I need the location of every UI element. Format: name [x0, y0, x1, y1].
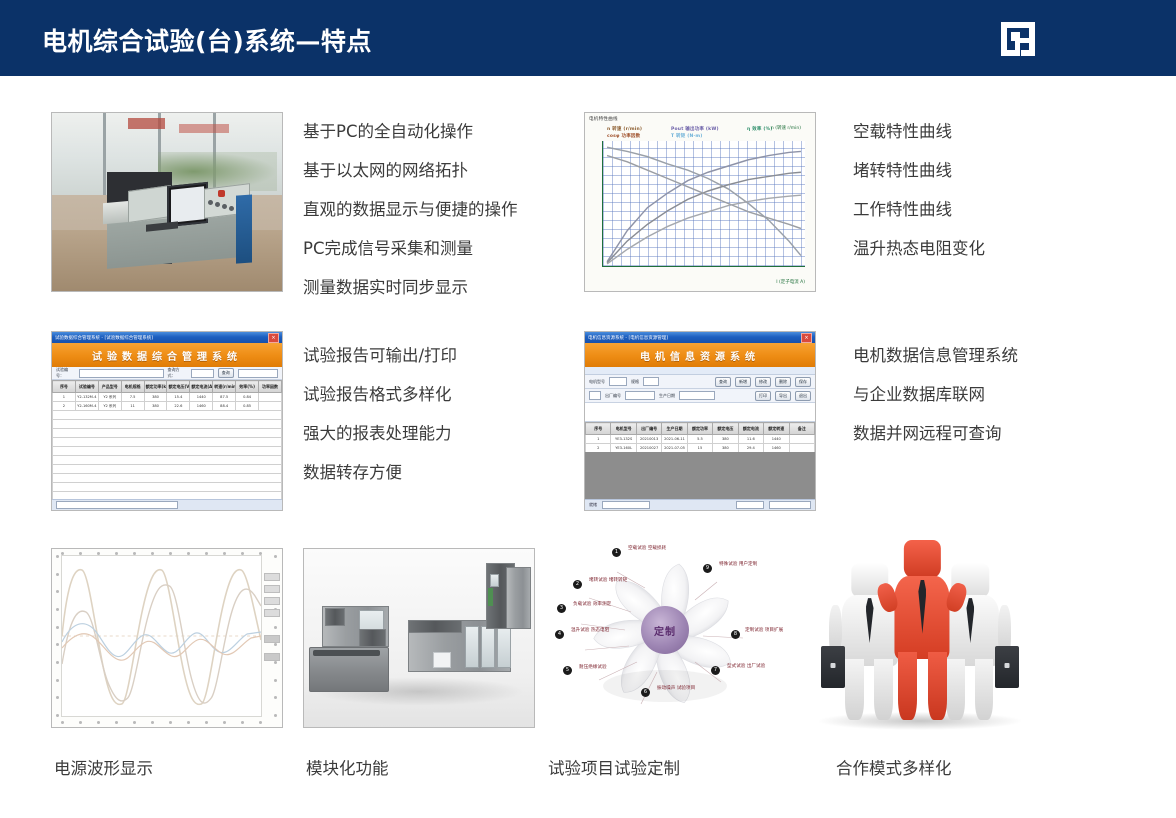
- callout-label-6: 振动噪声 试验项目: [657, 686, 695, 692]
- cell: Y2-160M-4: [75, 402, 98, 411]
- action-button[interactable]: 新增: [735, 377, 751, 387]
- test-item-custom-diagram: 定制 1 空载试验 空载损耗 2 堵转试验 堵转转矩 3 负载试验 效率测定 4…: [545, 538, 785, 734]
- cell: 11.6: [738, 435, 763, 444]
- feature-item: PC完成信号采集和测量: [303, 229, 518, 268]
- table-row[interactable]: [53, 438, 282, 447]
- table-row[interactable]: [53, 447, 282, 456]
- extra-field[interactable]: [238, 369, 278, 378]
- action-button[interactable]: 退出: [795, 391, 811, 401]
- col-header: 备注: [789, 423, 815, 435]
- caption-team: 合作模式多样化: [836, 755, 952, 779]
- cell: 0.85: [236, 402, 259, 411]
- callout-badge-2: 2: [573, 580, 582, 589]
- chart-legend-3: η 效率 (%): [747, 126, 773, 132]
- query-strip-2: 出厂编号 生产日期 打印 导出 退出: [585, 389, 815, 403]
- col-header: 额定电流: [738, 423, 763, 435]
- action-button[interactable]: 查询: [715, 377, 731, 387]
- callout-badge-5: 5: [563, 666, 572, 675]
- callout-badge-3: 3: [557, 604, 566, 613]
- app-statusbar: 就绪: [585, 499, 815, 510]
- page-title: 电机综合试验(台)系统—特点: [42, 22, 372, 58]
- cell: 1440: [190, 393, 213, 402]
- cell: Y2-132M-4: [75, 393, 98, 402]
- cell: 7.5: [121, 393, 144, 402]
- chart-legend-1: n 转速 (r/min): [607, 126, 642, 132]
- action-button[interactable]: 打印: [755, 391, 771, 401]
- table-row[interactable]: [53, 456, 282, 465]
- cell: [259, 402, 282, 411]
- field-label: 生产日期: [659, 393, 675, 399]
- cell: Y2 系列: [98, 402, 121, 411]
- filter-strip: 试验编号： 查询方式： 查询: [52, 367, 282, 380]
- second-label: 查询方式：: [168, 367, 187, 379]
- cell: 5.5: [687, 435, 712, 444]
- cell: 1460: [190, 402, 213, 411]
- filter-label: 试验编号：: [56, 367, 75, 379]
- col-header: 电机型号: [611, 423, 636, 435]
- feature-item: 与企业数据库联网: [853, 375, 1018, 414]
- status-field: [56, 501, 178, 509]
- company-logo: [999, 20, 1037, 58]
- callout-label-7: 型式试验 出厂试验: [727, 664, 765, 670]
- menu-bar[interactable]: [585, 367, 815, 375]
- app-titlebar: 试验数据综合管理系统 - [试验数据综合管理系统] ×: [52, 332, 282, 343]
- close-icon[interactable]: ×: [801, 333, 812, 343]
- chart-legend-2: Pout 输出功率 (kW): [671, 126, 719, 132]
- cell: [789, 435, 815, 444]
- field-label: 电机型号: [589, 379, 605, 385]
- col-header: 转速(r/min): [213, 381, 236, 393]
- caption-waveform: 电源波形显示: [54, 755, 153, 779]
- table-row[interactable]: [53, 420, 282, 429]
- cell: 380: [144, 402, 167, 411]
- plc-module-photo: [303, 548, 535, 728]
- cell: 15.4: [167, 393, 190, 402]
- col-header: 效率(%): [236, 381, 259, 393]
- callout-badge-9: 9: [703, 564, 712, 573]
- table-row[interactable]: [53, 411, 282, 420]
- cell: Y2 系列: [98, 393, 121, 402]
- motor-table: 序号 电机型号 出厂编号 生产日期 额定功率 额定电压 额定电流 额定转速 备注: [585, 422, 815, 453]
- table-header-row: 序号 电机型号 出厂编号 生产日期 额定功率 额定电压 额定电流 额定转速 备注: [586, 423, 815, 435]
- cell: 1: [586, 435, 611, 444]
- feature-item: 电机数据信息管理系统: [853, 336, 1018, 375]
- col-header: 序号: [53, 381, 76, 393]
- col-header: 额定功率(kW): [144, 381, 167, 393]
- feature-item: 强大的报表处理能力: [303, 414, 457, 453]
- callout-label-3: 负载试验 效率测定: [573, 602, 611, 608]
- feature-item: 工作特性曲线: [853, 190, 985, 229]
- callout-label-1: 空载试验 空载损耗: [628, 546, 666, 552]
- caption-fan: 试验项目试验定制: [548, 755, 680, 779]
- table-row[interactable]: 1 YE3-132S 20210013 2021-06-11 5.5 380 1…: [586, 435, 815, 444]
- filter-input[interactable]: [79, 369, 163, 378]
- feature-item: 直观的数据显示与便捷的操作: [303, 190, 518, 229]
- figure-center: [889, 540, 956, 720]
- feature-list-console: 基于PC的全自动化操作 基于以太网的网络拓扑 直观的数据显示与便捷的操作 PC完…: [303, 112, 518, 307]
- col-header: 出厂编号: [636, 423, 661, 435]
- cell: 20210013: [636, 435, 661, 444]
- col-header: 额定转速: [764, 423, 789, 435]
- feature-item: 空载特性曲线: [853, 112, 985, 151]
- feature-item: 试验报告可输出/打印: [303, 336, 457, 375]
- characteristic-curve-chart: 电机特性曲线 n 转速 (r/min) Pout 输出功率 (kW) η 效率 …: [584, 112, 816, 292]
- feature-item: 数据转存方便: [303, 453, 457, 492]
- app-titlebar-text: 电机信息资源系统 - [电机信息资源管理]: [588, 335, 668, 341]
- action-button[interactable]: 删除: [775, 377, 791, 387]
- col-header: 额定电压(V): [167, 381, 190, 393]
- cell: 11: [121, 402, 144, 411]
- col-header: 电机规格: [121, 381, 144, 393]
- feature-list-motor-info: 电机数据信息管理系统 与企业数据库联网 数据并网远程可查询: [853, 336, 1018, 453]
- feature-item: 数据并网远程可查询: [853, 414, 1018, 453]
- callout-label-5: 耐压绝缘试验: [579, 665, 607, 671]
- feature-item: 试验报告格式多样化: [303, 375, 457, 414]
- col-header: 功率因数: [259, 381, 282, 393]
- col-header: 序号: [586, 423, 611, 435]
- chart-legend-5: T 转矩 (N·m): [671, 133, 702, 139]
- motor-info-resource-screenshot: 电机信息资源系统 - [电机信息资源管理] × 电机信息资源系统 电机型号 规格…: [584, 331, 816, 511]
- cell: 1440: [764, 435, 789, 444]
- field-input[interactable]: [679, 391, 715, 400]
- table-header-row: 序号 试验编号 产品型号 电机规格 额定功率(kW) 额定电压(V) 额定电流(…: [53, 381, 282, 393]
- report-table: 序号 试验编号 产品型号 电机规格 额定功率(kW) 额定电压(V) 额定电流(…: [52, 380, 282, 499]
- control-console-photo: [51, 112, 283, 292]
- feature-item: 基于以太网的网络拓扑: [303, 151, 518, 190]
- feature-item: 测量数据实时同步显示: [303, 268, 518, 307]
- scope-screen: [61, 555, 262, 717]
- fan-center-label: 定制: [641, 606, 689, 654]
- search-button[interactable]: 查询: [218, 368, 234, 378]
- col-header: 额定功率: [687, 423, 712, 435]
- feature-item: 堵转特性曲线: [853, 151, 985, 190]
- chart-plot-area: [602, 141, 805, 267]
- field-label: 规格: [631, 379, 639, 385]
- chart-title: 电机特性曲线: [589, 116, 618, 122]
- power-waveform-scope: [51, 548, 283, 728]
- cell: 0.84: [236, 393, 259, 402]
- cell: 380: [144, 393, 167, 402]
- cell: YE3-132S: [611, 435, 636, 444]
- col-header: 额定电流(A): [190, 381, 213, 393]
- close-icon[interactable]: ×: [268, 333, 279, 343]
- feature-item: 基于PC的全自动化操作: [303, 112, 518, 151]
- cell: 22.6: [167, 402, 190, 411]
- action-button[interactable]: 修改: [755, 377, 771, 387]
- callout-badge-1: 1: [612, 548, 621, 557]
- empty-record-area: [585, 452, 815, 499]
- query-strip-1: 电机型号 规格 查询 新增 修改 删除 保存: [585, 375, 815, 389]
- callout-badge-6: 6: [641, 688, 650, 697]
- feature-list-curves: 空载特性曲线 堵转特性曲线 工作特性曲线 温升热态电阻变化: [853, 112, 985, 268]
- cell: 2021-06-11: [662, 435, 687, 444]
- field-input[interactable]: [609, 377, 627, 386]
- test-report-management-screenshot: 试验数据综合管理系统 - [试验数据综合管理系统] × 试验数据综合管理系统 试…: [51, 331, 283, 511]
- callout-label-9: 特殊试验 用户定制: [719, 562, 757, 568]
- feature-list-report: 试验报告可输出/打印 试验报告格式多样化 强大的报表处理能力 数据转存方便: [303, 336, 457, 492]
- mode-select[interactable]: [191, 369, 214, 378]
- table-row[interactable]: [53, 474, 282, 483]
- app-banner: 电机信息资源系统: [585, 343, 815, 367]
- action-button[interactable]: 保存: [795, 377, 811, 387]
- col-header: 试验编号: [75, 381, 98, 393]
- chart-y-label: n (转速 r/min): [771, 125, 801, 131]
- table-row[interactable]: 1 Y2-132M-4 Y2 系列 7.5 380 15.4 1440 87.5…: [53, 393, 282, 402]
- cooperation-team-figures: [800, 538, 1040, 734]
- col-header: 生产日期: [662, 423, 687, 435]
- cell: 380: [713, 435, 738, 444]
- motor-table-body: 序号 电机型号 出厂编号 生产日期 额定功率 额定电压 额定电流 额定转速 备注: [585, 422, 815, 499]
- callout-badge-7: 7: [711, 666, 720, 675]
- callout-badge-8: 8: [731, 630, 740, 639]
- report-table-body: 序号 试验编号 产品型号 电机规格 额定功率(kW) 额定电压(V) 额定电流(…: [52, 380, 282, 499]
- callout-label-8: 定制试验 项目扩展: [745, 628, 783, 634]
- action-button[interactable]: 导出: [775, 391, 791, 401]
- cell: 87.5: [213, 393, 236, 402]
- feature-item: 温升热态电阻变化: [853, 229, 985, 268]
- table-row[interactable]: [53, 483, 282, 492]
- page-header: 电机综合试验(台)系统—特点: [0, 0, 1176, 76]
- app-statusbar: [52, 499, 282, 510]
- chart-legend-4: cosφ 功率因数: [607, 133, 640, 139]
- cell: 2: [53, 402, 76, 411]
- app-titlebar-text: 试验数据综合管理系统 - [试验数据综合管理系统]: [55, 335, 153, 341]
- status-text: 就绪: [589, 502, 597, 508]
- chart-x-label: I (定子电流 A): [776, 279, 805, 285]
- detail-pane: [585, 403, 815, 422]
- callout-label-2: 堵转试验 堵转转矩: [589, 578, 627, 584]
- cell: 88.4: [213, 402, 236, 411]
- col-header: 产品型号: [98, 381, 121, 393]
- app-titlebar: 电机信息资源系统 - [电机信息资源管理] ×: [585, 332, 815, 343]
- caption-plc: 模块化功能: [306, 755, 389, 779]
- callout-badge-4: 4: [555, 630, 564, 639]
- table-row[interactable]: [53, 465, 282, 474]
- field-input[interactable]: [643, 377, 659, 386]
- callout-label-4: 温升试验 热态电阻: [571, 628, 609, 634]
- field-label: 出厂编号: [605, 393, 621, 399]
- content-area: 基于PC的全自动化操作 基于以太网的网络拓扑 直观的数据显示与便捷的操作 PC完…: [0, 76, 1176, 818]
- col-header: 额定电压: [713, 423, 738, 435]
- table-row[interactable]: [53, 492, 282, 500]
- cell: 1: [53, 393, 76, 402]
- table-row[interactable]: 2 Y2-160M-4 Y2 系列 11 380 22.6 1460 88.4 …: [53, 402, 282, 411]
- app-banner: 试验数据综合管理系统: [52, 343, 282, 367]
- cell: [259, 393, 282, 402]
- table-row[interactable]: [53, 429, 282, 438]
- field-input[interactable]: [625, 391, 655, 400]
